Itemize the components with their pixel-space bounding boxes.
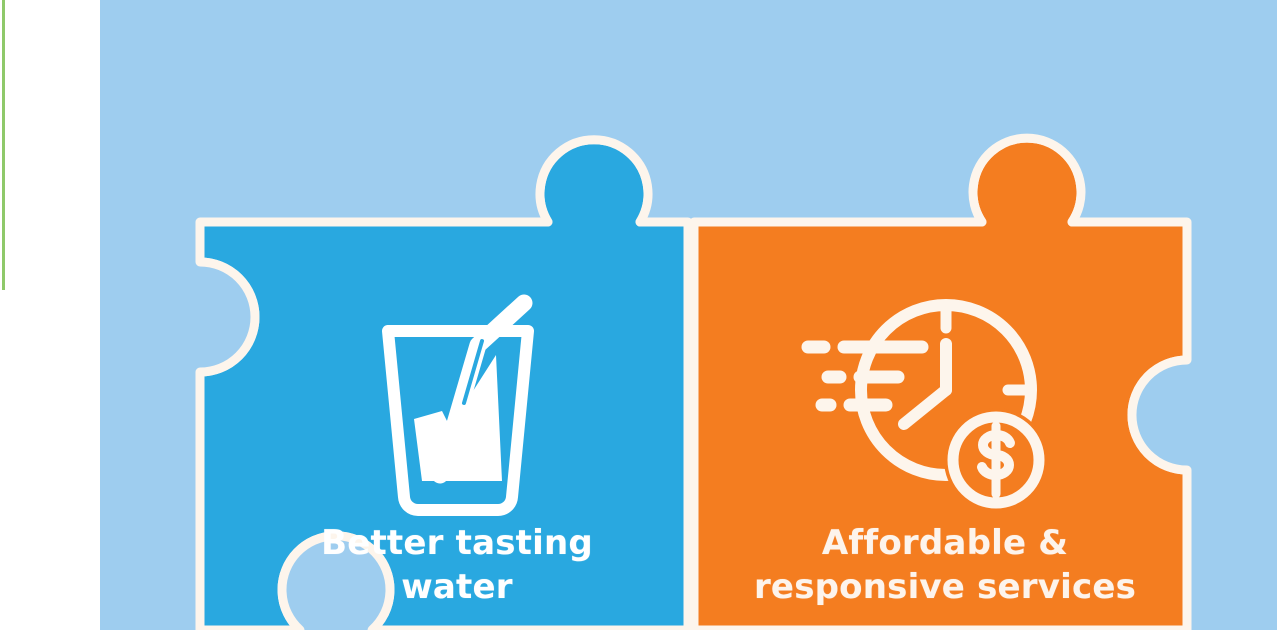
slide-canvas: Better tasting water Affordable & respon… (0, 0, 1277, 630)
blue-piece-caption: Better tasting water (232, 522, 682, 609)
orange-piece-caption: Affordable & responsive services (700, 522, 1190, 609)
